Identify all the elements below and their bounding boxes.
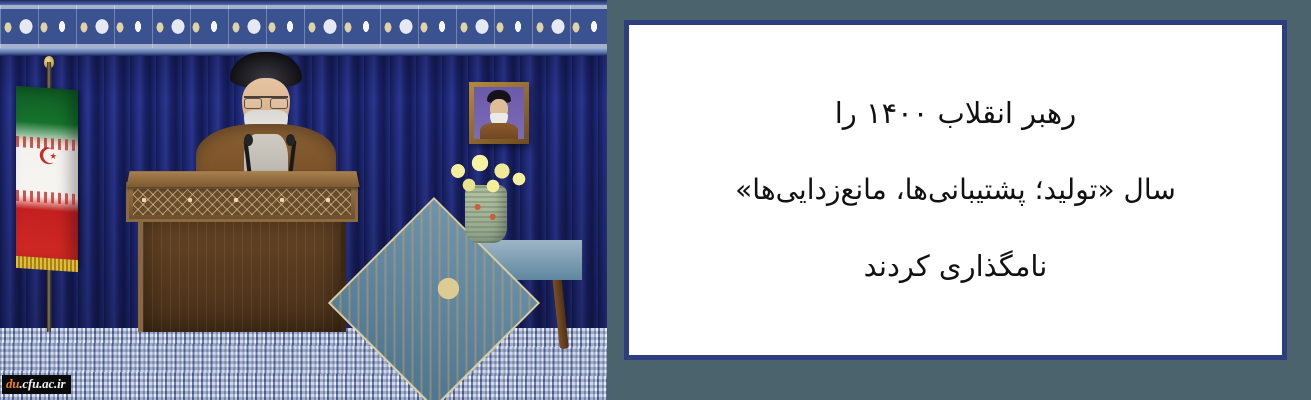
- banner-stage: ☪: [0, 0, 1311, 400]
- leader-speech-photo: ☪: [0, 0, 607, 400]
- frieze-band: [0, 5, 607, 48]
- portrait-robe: [480, 123, 518, 139]
- framed-portrait: [469, 82, 529, 144]
- podium-inlay-panel: [126, 182, 358, 222]
- headline-line-1: رهبر انقلاب ۱۴۰۰ را: [643, 99, 1268, 128]
- speaker-glasses-icon: [244, 96, 288, 107]
- khatam-marquetry: [133, 189, 351, 215]
- microphone-head-left: [244, 134, 253, 146]
- tile-frieze: [0, 0, 607, 56]
- headline-card: رهبر انقلاب ۱۴۰۰ را سال «تولید؛ پشتیبانی…: [624, 20, 1287, 360]
- flag-stripe-bottom: [16, 190, 78, 205]
- watermark-domain-text: .cfu.ac.ir: [19, 376, 65, 391]
- iran-flag: ☪: [16, 86, 78, 265]
- carpet: [0, 328, 607, 400]
- headline-line-2: سال «تولید؛ پشتیبانی‌ها، مانع‌زدایی‌ها»: [643, 176, 1268, 204]
- iran-emblem-icon: ☪: [36, 143, 60, 171]
- site-watermark: du.cfu.ac.ir: [2, 375, 71, 394]
- microphone-head-right: [286, 134, 295, 146]
- headline-text-block: رهبر انقلاب ۱۴۰۰ را سال «تولید؛ پشتیبانی…: [629, 99, 1282, 281]
- frieze-motifs: [0, 5, 607, 48]
- narcissus-flowers: [440, 145, 535, 197]
- watermark-accent-text: du: [6, 376, 19, 391]
- wooden-podium-body: [138, 220, 346, 332]
- podium-top-surface: [126, 171, 359, 187]
- headline-line-3: نامگذاری کردند: [643, 252, 1268, 281]
- portrait-image: [474, 87, 524, 139]
